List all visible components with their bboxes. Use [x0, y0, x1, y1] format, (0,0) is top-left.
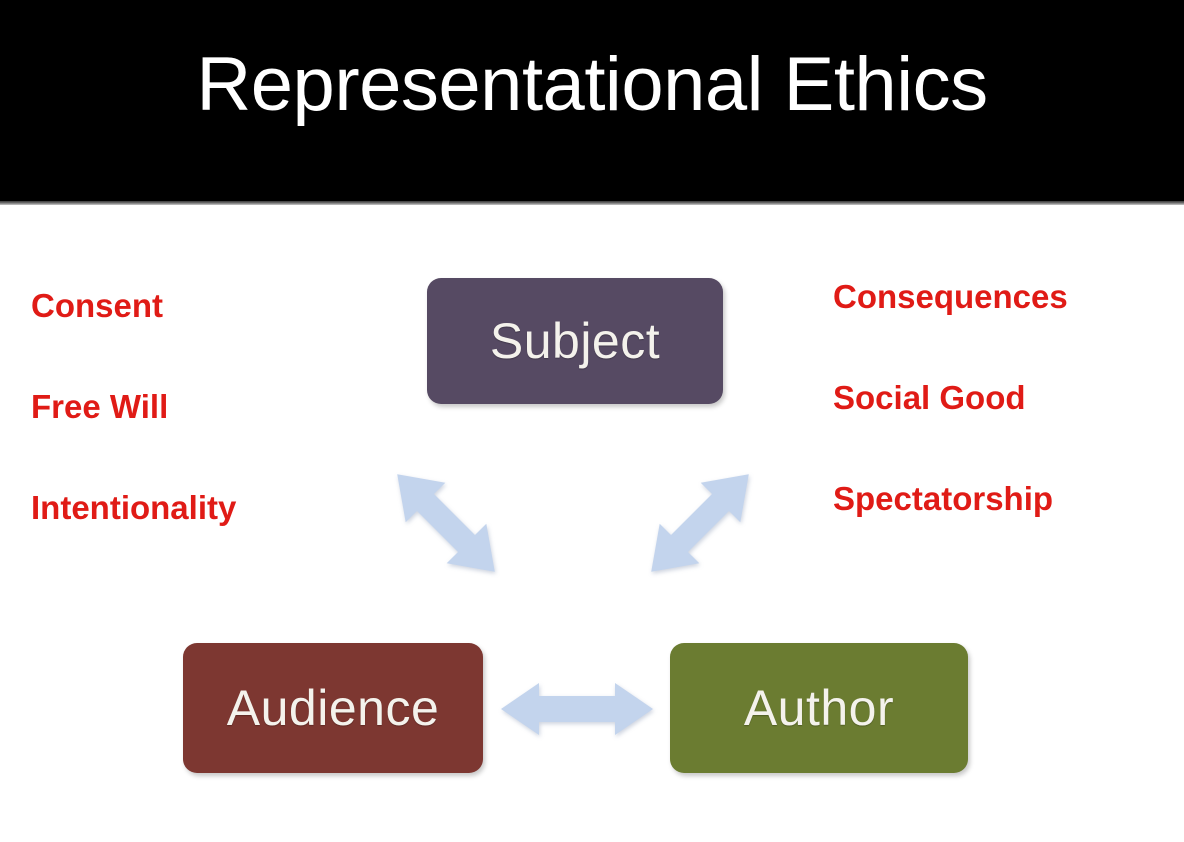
audience-author-arrow-icon [497, 678, 657, 740]
subject-audience-arrow-icon [386, 448, 506, 598]
title-banner-divider [0, 201, 1184, 205]
subject-author-arrow-icon [640, 448, 760, 598]
keyword-intentionality: Intentionality [31, 491, 236, 524]
keyword-social-good: Social Good [833, 381, 1026, 414]
page-title: Representational Ethics [0, 42, 1184, 127]
keyword-consequences: Consequences [833, 280, 1068, 313]
keyword-spectatorship: Spectatorship [833, 482, 1053, 515]
keyword-free-will: Free Will [31, 390, 168, 423]
node-subject: Subject [427, 278, 723, 404]
slide-canvas: Representational Ethics Consent Free Wil… [0, 0, 1184, 842]
keyword-consent: Consent [31, 289, 163, 322]
node-audience: Audience [183, 643, 483, 773]
node-author: Author [670, 643, 968, 773]
